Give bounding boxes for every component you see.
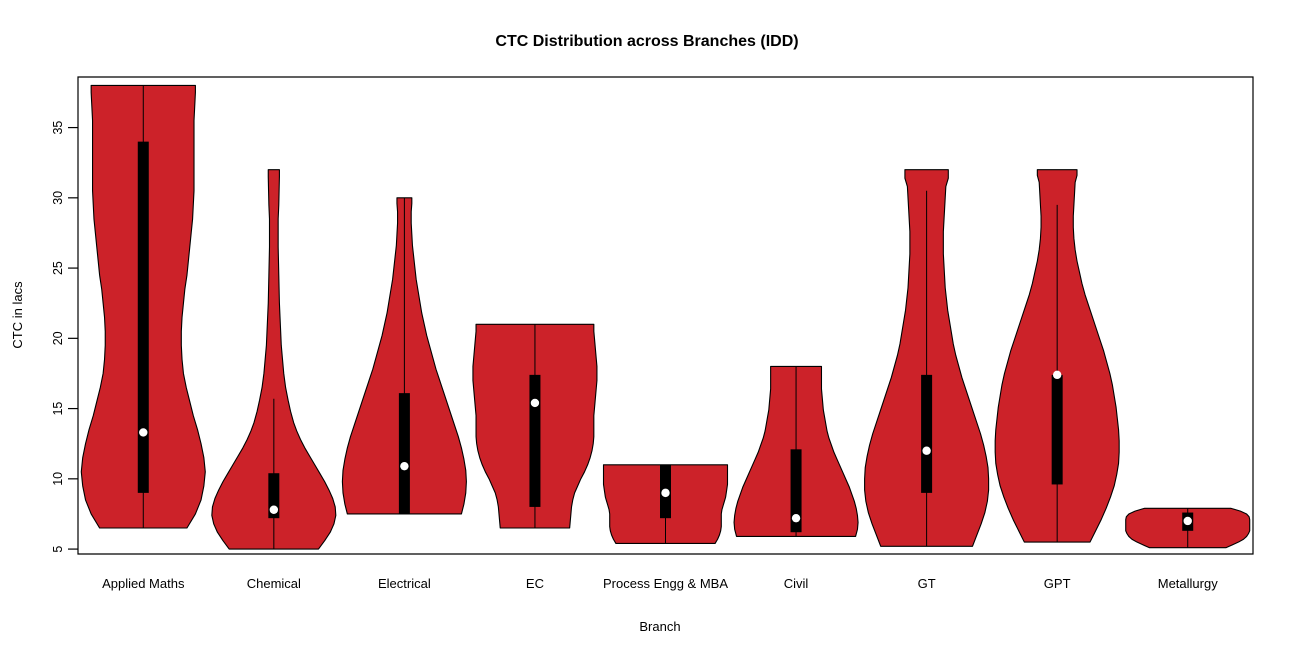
- violin-electrical: [342, 198, 466, 514]
- x-tick-label-chemical: Chemical: [247, 576, 301, 591]
- median-marker: [531, 399, 539, 407]
- median-marker: [1184, 517, 1192, 525]
- median-marker: [792, 514, 800, 522]
- median-marker: [139, 428, 147, 436]
- violin-ec: [473, 324, 597, 528]
- y-tick-label: 35: [51, 121, 65, 135]
- x-tick-label-civil: Civil: [784, 576, 809, 591]
- x-tick-label-metallurgy: Metallurgy: [1158, 576, 1218, 591]
- iqr-box: [399, 393, 410, 514]
- x-tick-label-applied-maths: Applied Maths: [102, 576, 185, 591]
- y-axis-title: CTC in lacs: [10, 281, 25, 349]
- median-marker: [661, 489, 669, 497]
- violin-metallurgy: [1126, 508, 1250, 547]
- y-tick-label: 10: [51, 472, 65, 486]
- violin-series-group: [81, 85, 1249, 549]
- violin-chemical: [212, 170, 336, 549]
- y-tick-label: 15: [51, 402, 65, 416]
- x-tick-label-gpt: GPT: [1044, 576, 1071, 591]
- iqr-box: [921, 375, 932, 493]
- y-tick-label: 5: [51, 546, 65, 553]
- y-axis: 5101520253035: [51, 121, 78, 553]
- median-marker: [400, 462, 408, 470]
- violin-applied-maths: [81, 85, 205, 528]
- violin-chart-svg: CTC Distribution across Branches (IDD) C…: [0, 0, 1294, 653]
- x-axis: Applied MathsChemicalElectricalECProcess…: [102, 576, 1218, 591]
- violin-chart-root: CTC Distribution across Branches (IDD) C…: [0, 0, 1294, 653]
- chart-title: CTC Distribution across Branches (IDD): [495, 33, 798, 50]
- violin-gt: [865, 170, 989, 547]
- median-marker: [922, 447, 930, 455]
- x-tick-label-electrical: Electrical: [378, 576, 431, 591]
- violin-civil: [734, 366, 858, 536]
- median-marker: [1053, 371, 1061, 379]
- median-marker: [270, 506, 278, 514]
- x-tick-label-ec: EC: [526, 576, 544, 591]
- y-tick-label: 30: [51, 191, 65, 205]
- y-tick-label: 25: [51, 261, 65, 275]
- iqr-box: [529, 375, 540, 507]
- violin-process-engg-mba: [604, 465, 728, 544]
- x-tick-label-gt: GT: [918, 576, 936, 591]
- iqr-box: [1052, 375, 1063, 485]
- iqr-box: [138, 142, 149, 493]
- violin-gpt: [995, 170, 1119, 542]
- y-tick-label: 20: [51, 331, 65, 345]
- x-tick-label-process-engg-mba: Process Engg & MBA: [603, 576, 728, 591]
- x-axis-title: Branch: [639, 619, 680, 634]
